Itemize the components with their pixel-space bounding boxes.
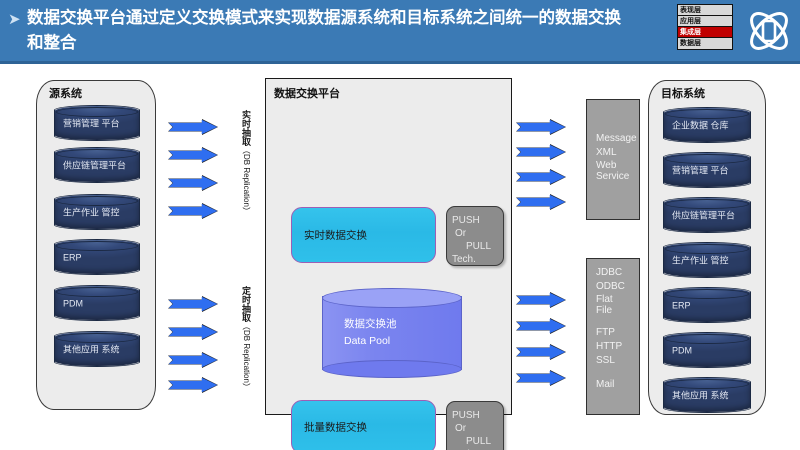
push-pull-tech-box-top[interactable]: PUSH Or PULL Tech.	[446, 206, 504, 266]
data-pool-bottom	[322, 360, 462, 378]
cylinder-top	[56, 287, 138, 297]
source-systems-panel: 源系统 营销管理 平台 供应链管理平台 生产作业 管控 ERP PDM	[36, 80, 156, 410]
data-pool-label-cn: 数据交换池	[344, 316, 397, 333]
data-pool-labels: 数据交换池 Data Pool	[344, 316, 397, 350]
slide-canvas: ➤ 数据交换平台通过定义交换模式来实现数据源系统和目标系统之间统一的数据交换和整…	[0, 0, 800, 450]
source-db-marketing[interactable]: 营销管理 平台	[54, 105, 140, 141]
flow-arrow	[168, 147, 218, 163]
arrow-fill	[517, 371, 566, 386]
realtime-extract-label: 实时抽取（DB Replication）	[240, 110, 252, 215]
page-title: 数据交换平台通过定义交换模式来实现数据源系统和目标系统之间统一的数据交换和整合	[27, 6, 627, 56]
source-db-supply-chain[interactable]: 供应链管理平台	[54, 147, 140, 183]
header-divider	[0, 61, 800, 64]
target-db-erp[interactable]: ERP	[663, 287, 751, 323]
protocol-xml: XML	[596, 146, 637, 160]
realtime-extract-label-cn: 实时抽取	[241, 110, 251, 146]
cylinder-top	[56, 241, 138, 251]
slide-header: ➤ 数据交换平台通过定义交换模式来实现数据源系统和目标系统之间统一的数据交换和整…	[0, 0, 800, 64]
cylinder-top	[56, 333, 138, 343]
tech-label: Tech.	[452, 253, 503, 266]
platform-title: 数据交换平台	[274, 85, 340, 101]
source-db-other[interactable]: 其他应用 系统	[54, 331, 140, 367]
protocol-jdbc: JDBC	[596, 266, 625, 280]
protocol-odbc: ODBC	[596, 280, 625, 294]
cylinder-top	[56, 149, 138, 159]
cylinder-top	[665, 334, 749, 344]
target-systems-panel: 目标系统 企业数据 仓库 营销管理 平台 供应链管理平台 生产作业 管控 ERP	[648, 80, 766, 415]
target-db-label: 营销管理 平台	[664, 165, 750, 176]
target-db-label: 生产作业 管控	[664, 255, 750, 266]
protocol-box-data-access: JDBC ODBC Flat File FTP HTTP SSL Mail	[586, 258, 640, 415]
protocol-list-bottom: JDBC ODBC Flat File FTP HTTP SSL Mail	[596, 266, 625, 392]
target-db-pdm[interactable]: PDM	[663, 332, 751, 368]
source-db-erp[interactable]: ERP	[54, 239, 140, 275]
layer-row-integration[interactable]: 集成层	[678, 27, 732, 38]
flow-arrow	[168, 203, 218, 219]
flow-arrow	[516, 292, 566, 308]
data-pool-label-en: Data Pool	[344, 333, 397, 350]
flow-arrow	[168, 175, 218, 191]
flow-arrow	[168, 377, 218, 393]
arrow-fill	[517, 293, 566, 308]
protocol-web: Web	[596, 160, 637, 171]
target-db-supply-chain[interactable]: 供应链管理平台	[663, 197, 751, 233]
arrow-fill	[169, 176, 218, 191]
arrow-fill	[517, 319, 566, 334]
target-db-label: PDM	[664, 345, 750, 356]
arrow-fill	[517, 195, 566, 210]
protocol-box-messaging: Message XML Web Service	[586, 99, 640, 220]
batch-exchange-label: 批量数据交换	[304, 420, 367, 435]
flow-arrow	[516, 144, 566, 160]
protocol-ssl: SSL	[596, 354, 625, 368]
cylinder-top	[665, 289, 749, 299]
source-db-label: PDM	[55, 298, 139, 309]
layer-row-application[interactable]: 应用层	[678, 16, 732, 27]
target-db-label: ERP	[664, 300, 750, 311]
atom-logo	[744, 6, 794, 56]
target-db-label: 其他应用 系统	[664, 390, 750, 401]
source-db-pdm[interactable]: PDM	[54, 285, 140, 321]
flow-arrow	[168, 352, 218, 368]
data-pool-top	[322, 288, 462, 308]
source-db-production[interactable]: 生产作业 管控	[54, 194, 140, 230]
flow-arrow	[516, 169, 566, 185]
or-label: Or	[452, 422, 503, 435]
target-db-other[interactable]: 其他应用 系统	[663, 377, 751, 413]
pull-label: PULL	[452, 240, 503, 253]
arrow-fill	[517, 120, 566, 135]
flow-arrow	[168, 119, 218, 135]
arrow-fill	[169, 297, 218, 312]
arrow-fill	[169, 120, 218, 135]
cylinder-top	[665, 379, 749, 389]
arrow-fill	[169, 325, 218, 340]
cylinder-top	[665, 244, 749, 254]
protocol-flat: Flat	[596, 294, 625, 305]
source-db-label: ERP	[55, 252, 139, 263]
cylinder-top	[56, 196, 138, 206]
push-label: PUSH	[452, 409, 503, 422]
source-db-label: 其他应用 系统	[55, 344, 139, 355]
batch-exchange-box[interactable]: 批量数据交换	[291, 400, 436, 450]
scheduled-extract-label-en: （DB Replication）	[242, 322, 251, 391]
arrow-fill	[169, 148, 218, 163]
architecture-layer-stack: 表现层 应用层 集成层 数据层	[677, 4, 733, 50]
flow-arrow	[168, 324, 218, 340]
bullet-arrow-icon: ➤	[8, 12, 21, 27]
cylinder-top	[56, 107, 138, 117]
flow-arrow	[516, 119, 566, 135]
scheduled-extract-label-cn: 定时抽取	[241, 286, 251, 322]
arrow-fill	[169, 204, 218, 219]
data-pool-cylinder[interactable]: 数据交换池 Data Pool	[322, 288, 462, 378]
flow-arrow	[516, 344, 566, 360]
pull-label: PULL	[452, 435, 503, 448]
protocol-spacer-2	[596, 368, 625, 378]
data-exchange-platform-box: 数据交换平台 实时数据交换 PUSH Or PULL Tech. 数据交换池 D…	[265, 78, 512, 415]
source-db-label: 供应链管理平台	[55, 160, 139, 171]
push-label: PUSH	[452, 214, 503, 227]
realtime-extract-label-en: （DB Replication）	[242, 146, 251, 215]
protocol-message: Message	[596, 132, 637, 146]
arrow-fill	[517, 145, 566, 160]
protocol-file: File	[596, 305, 625, 316]
flow-arrow	[516, 318, 566, 334]
protocol-ftp: FTP	[596, 326, 625, 340]
target-db-marketing[interactable]: 营销管理 平台	[663, 152, 751, 188]
target-db-label: 供应链管理平台	[664, 210, 750, 221]
source-panel-title: 源系统	[49, 85, 82, 101]
arrow-fill	[517, 170, 566, 185]
source-db-label: 营销管理 平台	[55, 118, 139, 129]
protocol-mail: Mail	[596, 378, 625, 392]
target-db-warehouse[interactable]: 企业数据 仓库	[663, 107, 751, 143]
or-label: Or	[452, 227, 503, 240]
flow-arrow	[516, 194, 566, 210]
layer-row-data[interactable]: 数据层	[678, 38, 732, 49]
arrow-fill	[169, 353, 218, 368]
layer-row-presentation[interactable]: 表现层	[678, 5, 732, 16]
target-db-label: 企业数据 仓库	[664, 120, 750, 131]
arrow-fill	[169, 378, 218, 393]
push-pull-tech-box-bottom[interactable]: PUSH Or PULL Tech.	[446, 401, 504, 450]
cylinder-top	[665, 154, 749, 164]
scheduled-extract-label: 定时抽取（DB Replication）	[240, 286, 252, 391]
arrow-fill	[517, 345, 566, 360]
cylinder-top	[665, 109, 749, 119]
protocol-list-top: Message XML Web Service	[596, 132, 637, 182]
flow-arrow	[516, 370, 566, 386]
cylinder-top	[665, 199, 749, 209]
realtime-exchange-box[interactable]: 实时数据交换	[291, 207, 436, 263]
target-panel-title: 目标系统	[661, 85, 705, 101]
flow-arrow	[168, 296, 218, 312]
protocol-http: HTTP	[596, 340, 625, 354]
realtime-exchange-label: 实时数据交换	[304, 228, 367, 243]
protocol-spacer-1	[596, 316, 625, 326]
target-db-production[interactable]: 生产作业 管控	[663, 242, 751, 278]
source-db-label: 生产作业 管控	[55, 207, 139, 218]
protocol-service: Service	[596, 171, 637, 182]
